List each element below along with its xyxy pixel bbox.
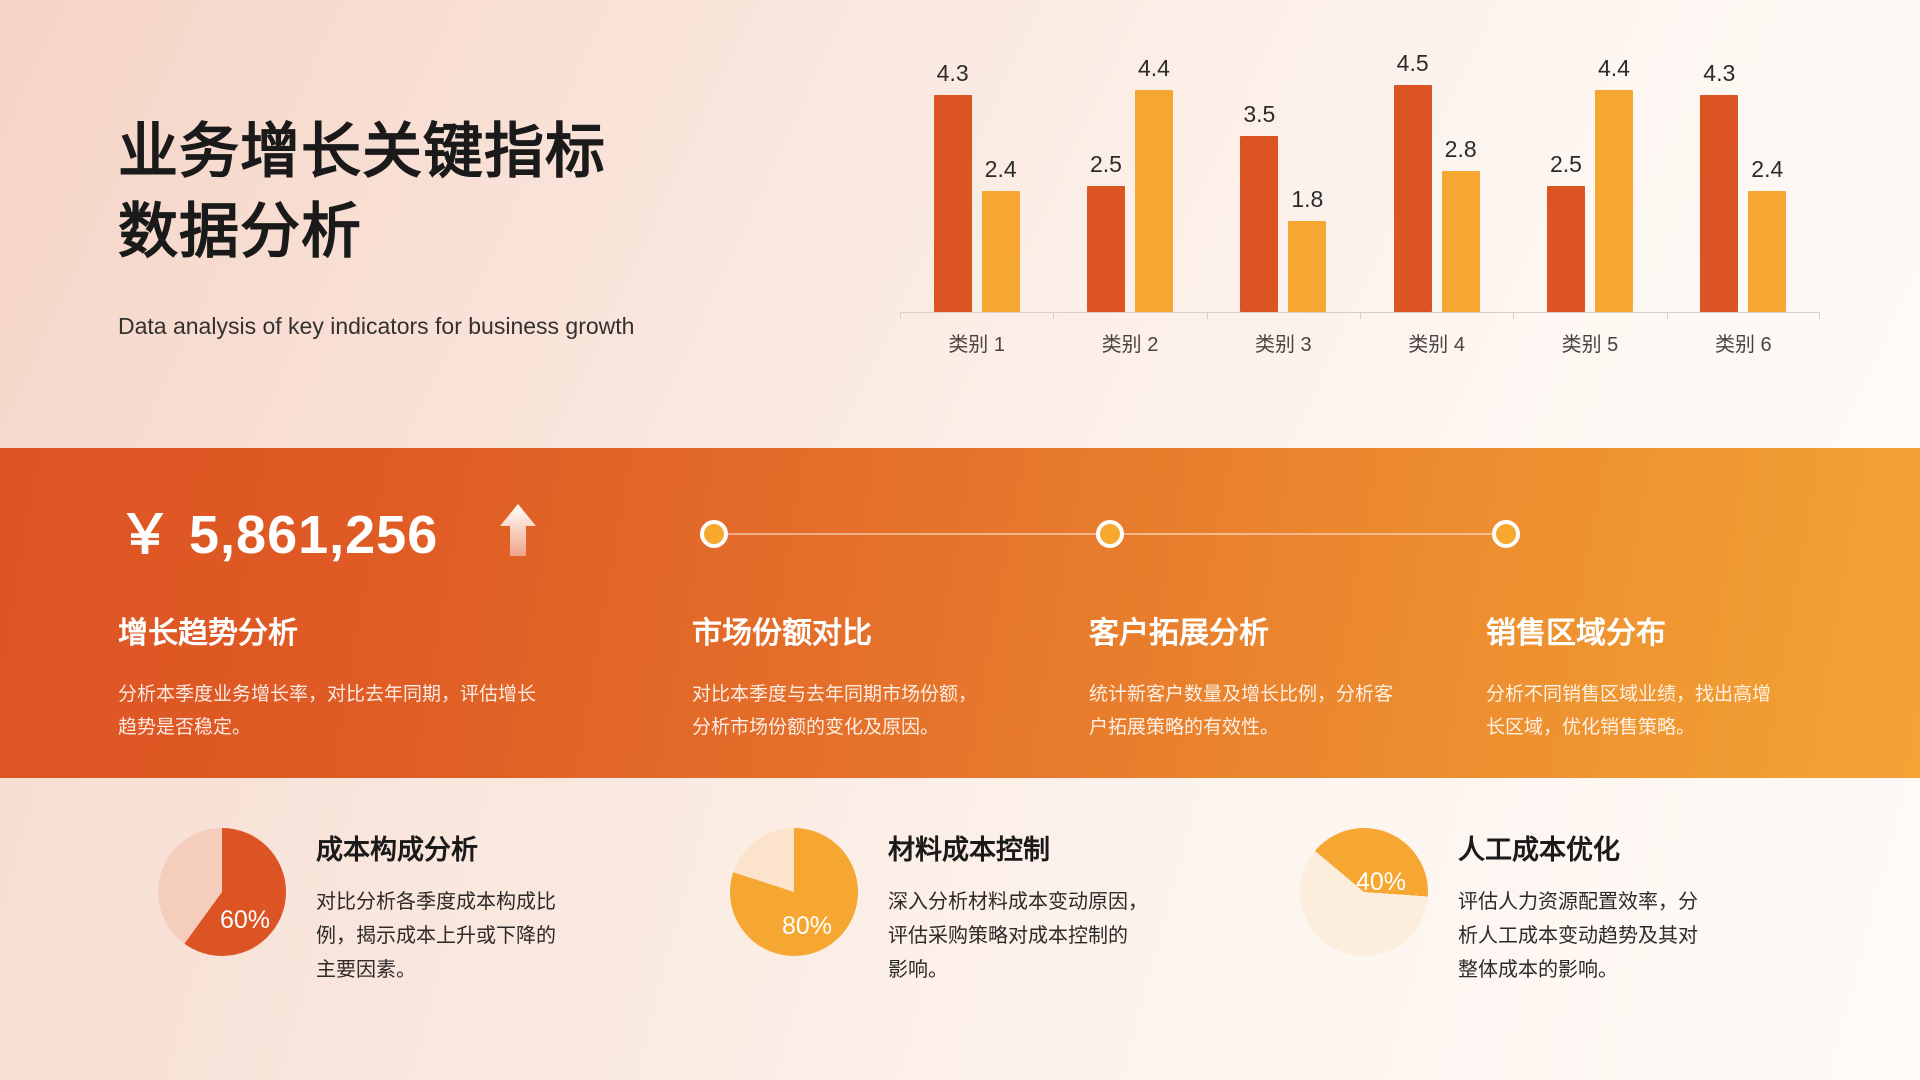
banner-columns: 增长趋势分析 分析本季度业务增长率，对比去年同期，评估增长趋势是否稳定。 市场份…	[0, 616, 1920, 776]
banner-column-1-heading: 增长趋势分析	[118, 616, 538, 652]
pie-body-line: 评估采购策略对成本控制的	[888, 920, 1148, 954]
banner-column-4-heading: 销售区域分布	[1486, 616, 1786, 652]
bar-group: 2.54.4	[1513, 60, 1666, 312]
pie-section: 60%成本构成分析对比分析各季度成本构成比例，揭示成本上升或下降的主要因素。80…	[0, 778, 1920, 1080]
pie-text-block: 材料成本控制深入分析材料成本变动原因，评估采购策略对成本控制的影响。	[888, 828, 1148, 987]
pie-item: 60%成本构成分析对比分析各季度成本构成比例，揭示成本上升或下降的主要因素。	[158, 828, 556, 987]
pie-body: 深入分析材料成本变动原因，评估采购策略对成本控制的影响。	[888, 886, 1148, 987]
header-section: 业务增长关键指标 数据分析 Data analysis of key indic…	[0, 0, 1920, 448]
bar-value-label: 3.5	[1243, 101, 1275, 128]
bar-column: 2.4	[982, 60, 1020, 312]
bar-value-label: 2.4	[985, 156, 1017, 183]
bar-value-label: 2.4	[1751, 156, 1783, 183]
page-title-line-2: 数据分析	[118, 192, 838, 272]
slide-root: 业务增长关键指标 数据分析 Data analysis of key indic…	[0, 0, 1920, 1080]
bar-value-label: 4.4	[1138, 55, 1170, 82]
banner-column-4: 销售区域分布 分析不同销售区域业绩，找出高增长区域，优化销售策略。	[1486, 616, 1786, 745]
axis-tick	[1360, 312, 1361, 319]
pie-chart: 40%	[1300, 828, 1428, 956]
axis-tick	[1207, 312, 1208, 319]
bar-group: 2.54.4	[1053, 60, 1206, 312]
bar-group: 3.51.8	[1207, 60, 1360, 312]
bar-value-label: 4.3	[1703, 60, 1735, 87]
bar	[1595, 90, 1633, 312]
pie-body-line: 例，揭示成本上升或下降的	[316, 920, 556, 954]
bar	[1394, 85, 1432, 312]
pie-body-line: 影响。	[888, 954, 1148, 988]
pie-body-line: 深入分析材料成本变动原因，	[888, 886, 1148, 920]
total-amount-value: ￥ 5,861,256	[118, 490, 438, 569]
pie-heading: 材料成本控制	[888, 834, 1148, 866]
bar-column: 3.5	[1240, 60, 1278, 312]
banner-column-3-heading: 客户拓展分析	[1089, 616, 1409, 652]
pie-body: 评估人力资源配置效率，分析人工成本变动趋势及其对整体成本的影响。	[1458, 886, 1698, 987]
bar-value-label: 2.5	[1090, 151, 1122, 178]
bar-value-label: 4.5	[1397, 50, 1429, 77]
bar-column: 2.5	[1547, 60, 1585, 312]
pie-heading: 成本构成分析	[316, 834, 556, 866]
pie-item: 40%人工成本优化评估人力资源配置效率，分析人工成本变动趋势及其对整体成本的影响…	[1300, 828, 1698, 987]
bar-category-label: 类别 6	[1667, 328, 1820, 357]
banner-column-2-body: 对比本季度与去年同期市场份额，分析市场份额的变化及原因。	[692, 678, 977, 745]
pie-body: 对比分析各季度成本构成比例，揭示成本上升或下降的主要因素。	[316, 886, 556, 987]
pie-text-block: 成本构成分析对比分析各季度成本构成比例，揭示成本上升或下降的主要因素。	[316, 828, 556, 987]
bar-value-label: 4.4	[1598, 55, 1630, 82]
pie-body-line: 析人工成本变动趋势及其对	[1458, 920, 1698, 954]
pie-text-block: 人工成本优化评估人力资源配置效率，分析人工成本变动趋势及其对整体成本的影响。	[1458, 828, 1698, 987]
bar	[1700, 95, 1738, 312]
highlight-banner: ￥ 5,861,256 增	[0, 448, 1920, 778]
bar-value-label: 4.3	[937, 60, 969, 87]
pie-heading: 人工成本优化	[1458, 834, 1698, 866]
page-subtitle: Data analysis of key indicators for busi…	[118, 310, 838, 342]
axis-tick	[1513, 312, 1514, 319]
bar-chart-plot: 4.32.42.54.43.51.84.52.82.54.44.32.4	[900, 60, 1820, 312]
total-amount-row: ￥ 5,861,256	[118, 490, 538, 569]
axis-tick	[1667, 312, 1668, 319]
pie-chart: 80%	[730, 828, 858, 956]
axis-tick	[1053, 312, 1054, 319]
pie-body-line: 评估人力资源配置效率，分	[1458, 886, 1698, 920]
banner-column-2: 市场份额对比 对比本季度与去年同期市场份额，分析市场份额的变化及原因。	[692, 616, 982, 745]
bar-column: 4.3	[1700, 60, 1738, 312]
page-title-line-1: 业务增长关键指标	[118, 112, 838, 192]
bar-value-label: 2.8	[1445, 136, 1477, 163]
bar	[1087, 186, 1125, 312]
bar-column: 2.8	[1442, 60, 1480, 312]
pie-body-line: 整体成本的影响。	[1458, 954, 1698, 988]
arrow-up-icon	[498, 502, 538, 558]
bar	[982, 191, 1020, 312]
banner-column-4-body: 分析不同销售区域业绩，找出高增长区域，优化销售策略。	[1486, 678, 1781, 745]
banner-column-3: 客户拓展分析 统计新客户数量及增长比例，分析客户拓展策略的有效性。	[1089, 616, 1409, 745]
bar	[1442, 171, 1480, 312]
bar-category-label: 类别 2	[1053, 328, 1206, 357]
pie-body-line: 主要因素。	[316, 954, 556, 988]
bar-chart-category-labels: 类别 1类别 2类别 3类别 4类别 5类别 6	[900, 328, 1820, 357]
bar	[934, 95, 972, 312]
bar-category-label: 类别 4	[1360, 328, 1513, 357]
timeline-connector	[700, 514, 1520, 554]
bar	[1240, 136, 1278, 312]
pie-percent-label: 40%	[1356, 868, 1406, 897]
bar-column: 2.5	[1087, 60, 1125, 312]
pie-percent-label: 80%	[782, 912, 832, 941]
banner-column-1-body: 分析本季度业务增长率，对比去年同期，评估增长趋势是否稳定。	[118, 678, 548, 745]
bar-value-label: 1.8	[1291, 186, 1323, 213]
timeline-dot-3[interactable]	[1492, 520, 1520, 548]
bar-chart: 4.32.42.54.43.51.84.52.82.54.44.32.4 类别 …	[900, 60, 1820, 360]
bar-category-label: 类别 3	[1207, 328, 1360, 357]
banner-column-2-heading: 市场份额对比	[692, 616, 982, 652]
axis-tick	[1819, 312, 1820, 319]
banner-column-3-body: 统计新客户数量及增长比例，分析客户拓展策略的有效性。	[1089, 678, 1409, 745]
bar-column: 4.4	[1595, 60, 1633, 312]
pie-body-line: 对比分析各季度成本构成比	[316, 886, 556, 920]
bar-chart-groups: 4.32.42.54.43.51.84.52.82.54.44.32.4	[900, 60, 1820, 312]
bar	[1547, 186, 1585, 312]
bar-column: 4.4	[1135, 60, 1173, 312]
bar	[1135, 90, 1173, 312]
title-block: 业务增长关键指标 数据分析 Data analysis of key indic…	[118, 112, 838, 342]
bar-value-label: 2.5	[1550, 151, 1582, 178]
banner-column-1: 增长趋势分析 分析本季度业务增长率，对比去年同期，评估增长趋势是否稳定。	[118, 616, 538, 745]
pie-item: 80%材料成本控制深入分析材料成本变动原因，评估采购策略对成本控制的影响。	[730, 828, 1148, 987]
bar-group: 4.32.4	[1667, 60, 1820, 312]
bar	[1748, 191, 1786, 312]
pie-chart: 60%	[158, 828, 286, 956]
pie-percent-label: 60%	[220, 906, 270, 935]
bar-group: 4.52.8	[1360, 60, 1513, 312]
bar-column: 4.5	[1394, 60, 1432, 312]
timeline-dot-1[interactable]	[700, 520, 728, 548]
axis-tick	[900, 312, 901, 319]
bar-column: 2.4	[1748, 60, 1786, 312]
bar-column: 4.3	[934, 60, 972, 312]
bar-group: 4.32.4	[900, 60, 1053, 312]
bar-category-label: 类别 1	[900, 328, 1053, 357]
timeline-dot-2[interactable]	[1096, 520, 1124, 548]
bar-column: 1.8	[1288, 60, 1326, 312]
bar-category-label: 类别 5	[1513, 328, 1666, 357]
bar	[1288, 221, 1326, 312]
bar-chart-axis-line	[900, 312, 1820, 313]
